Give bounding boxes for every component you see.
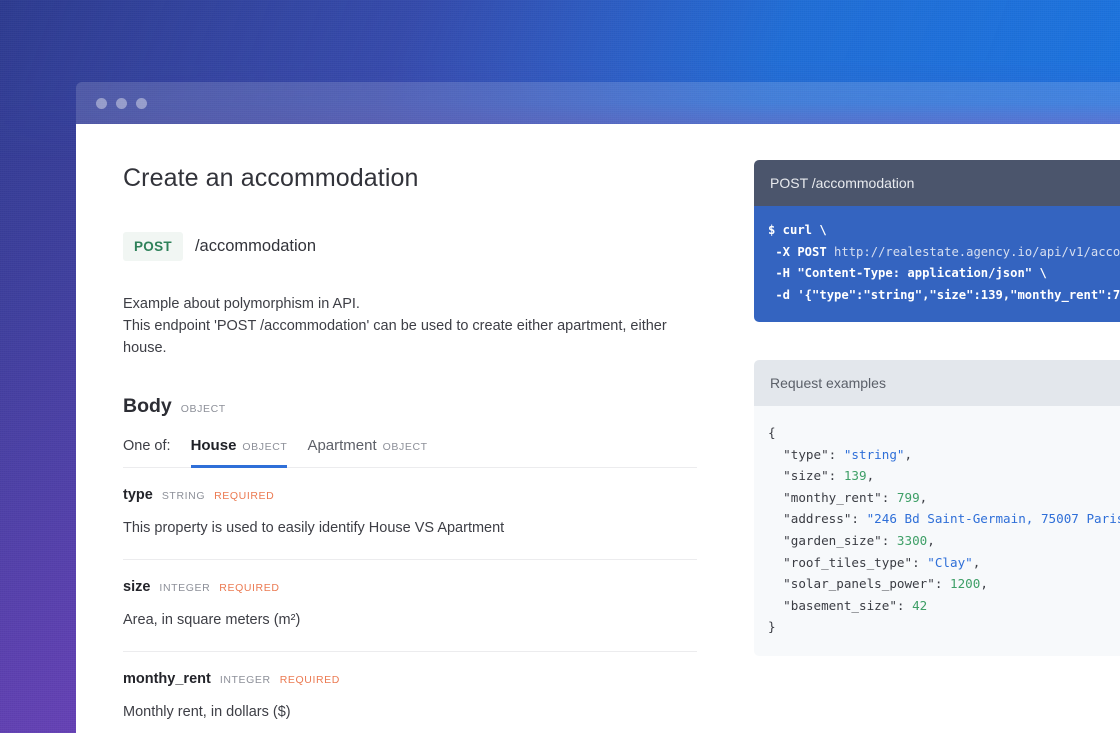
json-token: :: [829, 447, 844, 462]
tab-apartment[interactable]: ApartmentOBJECT: [307, 437, 427, 468]
json-token: 3300: [897, 533, 927, 548]
curl-token: -X POST: [768, 245, 834, 259]
json-token: ,: [973, 555, 981, 570]
json-line: "size": 139,: [768, 465, 1120, 487]
description-line: Example about polymorphism in API.: [123, 293, 698, 315]
endpoint-row: POST /accommodation: [123, 232, 726, 261]
tab-list: HouseOBJECTApartmentOBJECT: [191, 437, 428, 467]
curl-line: -d '{"type":"string","size":139,"monthy_…: [768, 285, 1120, 307]
json-line: "type": "string",: [768, 444, 1120, 466]
examples-panel-title: Request examples: [770, 375, 886, 391]
page-title: Create an accommodation: [123, 164, 726, 193]
curl-request-panel: POST /accommodation $ curl \ -X POST htt…: [754, 160, 1120, 322]
body-heading-label: Body: [123, 395, 172, 418]
property-description: This property is used to easily identify…: [123, 518, 697, 538]
property-description: Monthly rent, in dollars ($): [123, 702, 697, 722]
curl-token: -d '{"type":"string","size":139,"monthy_…: [768, 288, 1120, 302]
json-line: "basement_size": 42: [768, 595, 1120, 617]
json-token: 1200: [950, 576, 980, 591]
json-token: :: [829, 468, 844, 483]
json-token: "roof_tiles_type": [768, 555, 912, 570]
curl-token: -H "Content-Type: application/json" \: [768, 266, 1047, 280]
property-row: sizeINTEGERREQUIREDArea, in square meter…: [123, 560, 697, 652]
property-name: size: [123, 579, 150, 595]
json-token: :: [882, 533, 897, 548]
json-token: ,: [867, 468, 875, 483]
tab-label: Apartment: [307, 437, 376, 454]
tab-house[interactable]: HouseOBJECT: [191, 437, 288, 468]
json-token: "type": [768, 447, 829, 462]
tab-label: House: [191, 437, 237, 454]
property-type: INTEGER: [159, 582, 210, 594]
json-token: ,: [905, 447, 913, 462]
curl-panel-header: POST /accommodation: [754, 160, 1120, 206]
curl-code-block[interactable]: $ curl \ -X POST http://realestate.agenc…: [754, 206, 1120, 322]
json-token: "monthy_rent": [768, 490, 882, 505]
body-heading-type: OBJECT: [181, 403, 226, 415]
json-token: 799: [897, 490, 920, 505]
json-token: :: [935, 576, 950, 591]
json-token: "basement_size": [768, 598, 897, 613]
endpoint-path: /accommodation: [195, 237, 316, 256]
json-token: :: [851, 511, 866, 526]
curl-line: -X POST http://realestate.agency.io/api/…: [768, 242, 1120, 264]
json-line: }: [768, 616, 1120, 638]
json-token: "address": [768, 511, 851, 526]
property-head: typeSTRINGREQUIRED: [123, 487, 697, 503]
property-list: typeSTRINGREQUIREDThis property is used …: [123, 468, 726, 733]
json-line: "address": "246 Bd Saint-Germain, 75007 …: [768, 508, 1120, 530]
json-token: ,: [927, 533, 935, 548]
property-type: INTEGER: [220, 674, 271, 686]
json-token: 42: [912, 598, 927, 613]
examples-panel-header: Request examples House: [754, 360, 1120, 406]
maximize-dot-icon[interactable]: [136, 98, 147, 109]
documentation-column: Create an accommodation POST /accommodat…: [76, 124, 726, 733]
minimize-dot-icon[interactable]: [116, 98, 127, 109]
window-titlebar: [76, 82, 1120, 124]
json-token: ,: [980, 576, 988, 591]
property-name: type: [123, 487, 153, 503]
close-dot-icon[interactable]: [96, 98, 107, 109]
property-name: monthy_rent: [123, 671, 211, 687]
json-token: {: [768, 425, 776, 440]
json-token: 139: [844, 468, 867, 483]
curl-token: http://realestate.agency.io/api/v1/accom…: [834, 245, 1120, 259]
json-token: "246 Bd Saint-Germain, 75007 Paris": [867, 511, 1120, 526]
page-content: Create an accommodation POST /accommodat…: [76, 124, 1120, 733]
one-of-label: One of:: [123, 438, 171, 467]
property-row: monthy_rentINTEGERREQUIREDMonthly rent, …: [123, 652, 697, 733]
json-line: "solar_panels_power": 1200,: [768, 573, 1120, 595]
property-type: STRING: [162, 490, 205, 502]
property-head: sizeINTEGERREQUIRED: [123, 579, 697, 595]
json-token: "string": [844, 447, 905, 462]
json-token: }: [768, 619, 776, 634]
endpoint-description: Example about polymorphism in API.This e…: [123, 293, 698, 359]
json-token: :: [912, 555, 927, 570]
description-line: This endpoint 'POST /accommodation' can …: [123, 315, 698, 359]
json-line: "monthy_rent": 799,: [768, 487, 1120, 509]
property-row: typeSTRINGREQUIREDThis property is used …: [123, 468, 697, 560]
json-token: :: [897, 598, 912, 613]
body-section-heading: Body OBJECT: [123, 395, 726, 418]
json-token: "garden_size": [768, 533, 882, 548]
json-token: "size": [768, 468, 829, 483]
curl-line: $ curl \: [768, 220, 1120, 242]
json-token: ,: [920, 490, 928, 505]
json-token: "solar_panels_power": [768, 576, 935, 591]
property-required-badge: REQUIRED: [214, 490, 274, 502]
tab-type-tag: OBJECT: [242, 441, 287, 453]
json-example-code-block[interactable]: { "type": "string", "size": 139, "monthy…: [754, 406, 1120, 656]
method-badge: POST: [123, 232, 183, 261]
curl-panel-title: POST /accommodation: [770, 175, 914, 191]
json-line: "garden_size": 3300,: [768, 530, 1120, 552]
request-examples-panel: Request examples House { "type": "string…: [754, 360, 1120, 656]
property-description: Area, in square meters (m²): [123, 610, 697, 630]
property-head: monthy_rentINTEGERREQUIRED: [123, 671, 697, 687]
json-line: {: [768, 422, 1120, 444]
property-required-badge: REQUIRED: [219, 582, 279, 594]
curl-line: -H "Content-Type: application/json" \: [768, 263, 1120, 285]
tab-type-tag: OBJECT: [383, 441, 428, 453]
json-token: :: [882, 490, 897, 505]
examples-column: POST /accommodation $ curl \ -X POST htt…: [726, 124, 1120, 656]
browser-window: Create an accommodation POST /accommodat…: [76, 82, 1120, 733]
json-line: "roof_tiles_type": "Clay",: [768, 552, 1120, 574]
property-required-badge: REQUIRED: [280, 674, 340, 686]
curl-token: $ curl \: [768, 223, 827, 237]
json-token: "Clay": [927, 555, 973, 570]
one-of-tabs: One of: HouseOBJECTApartmentOBJECT: [123, 437, 697, 468]
